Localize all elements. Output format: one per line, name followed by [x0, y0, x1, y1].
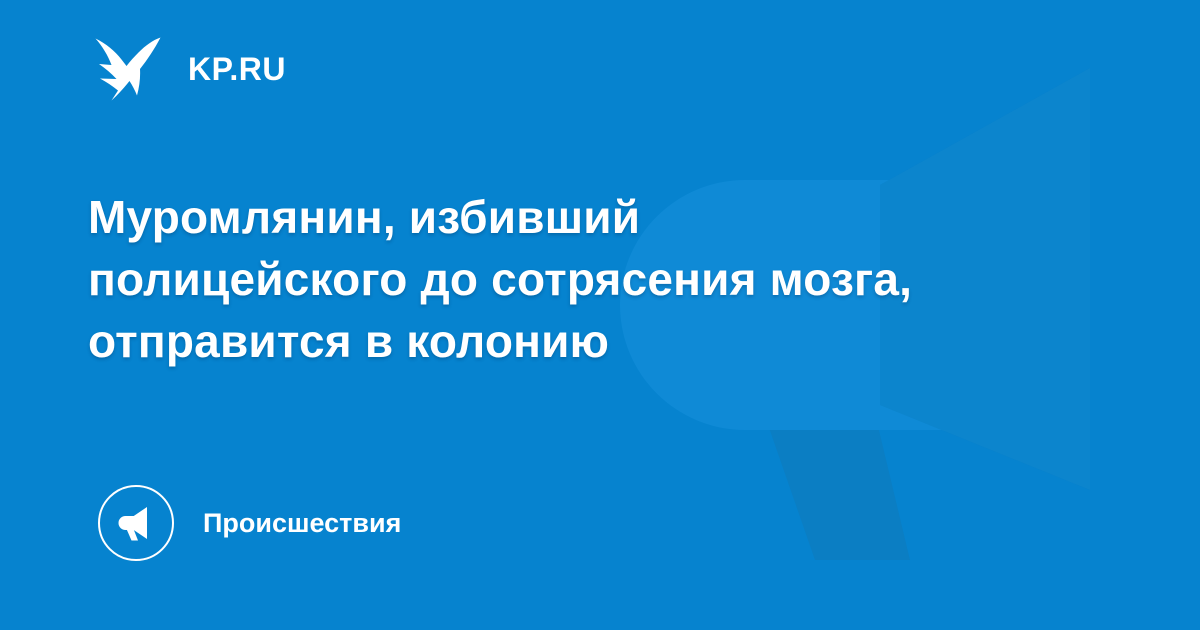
headline: Муромлянин, избивший полицейского до сот…: [88, 186, 968, 372]
rubric[interactable]: Происшествия: [98, 484, 401, 562]
rubric-badge: [98, 485, 174, 561]
swallow-bird-icon: [90, 33, 166, 105]
rubric-label: Происшествия: [203, 510, 401, 537]
brand-logo[interactable]: KP.RU: [90, 34, 286, 104]
megaphone-icon: [116, 505, 156, 541]
brand-name: KP.RU: [188, 53, 286, 85]
social-share-card: KP.RU Муромлянин, избивший полицейского …: [0, 0, 1200, 630]
